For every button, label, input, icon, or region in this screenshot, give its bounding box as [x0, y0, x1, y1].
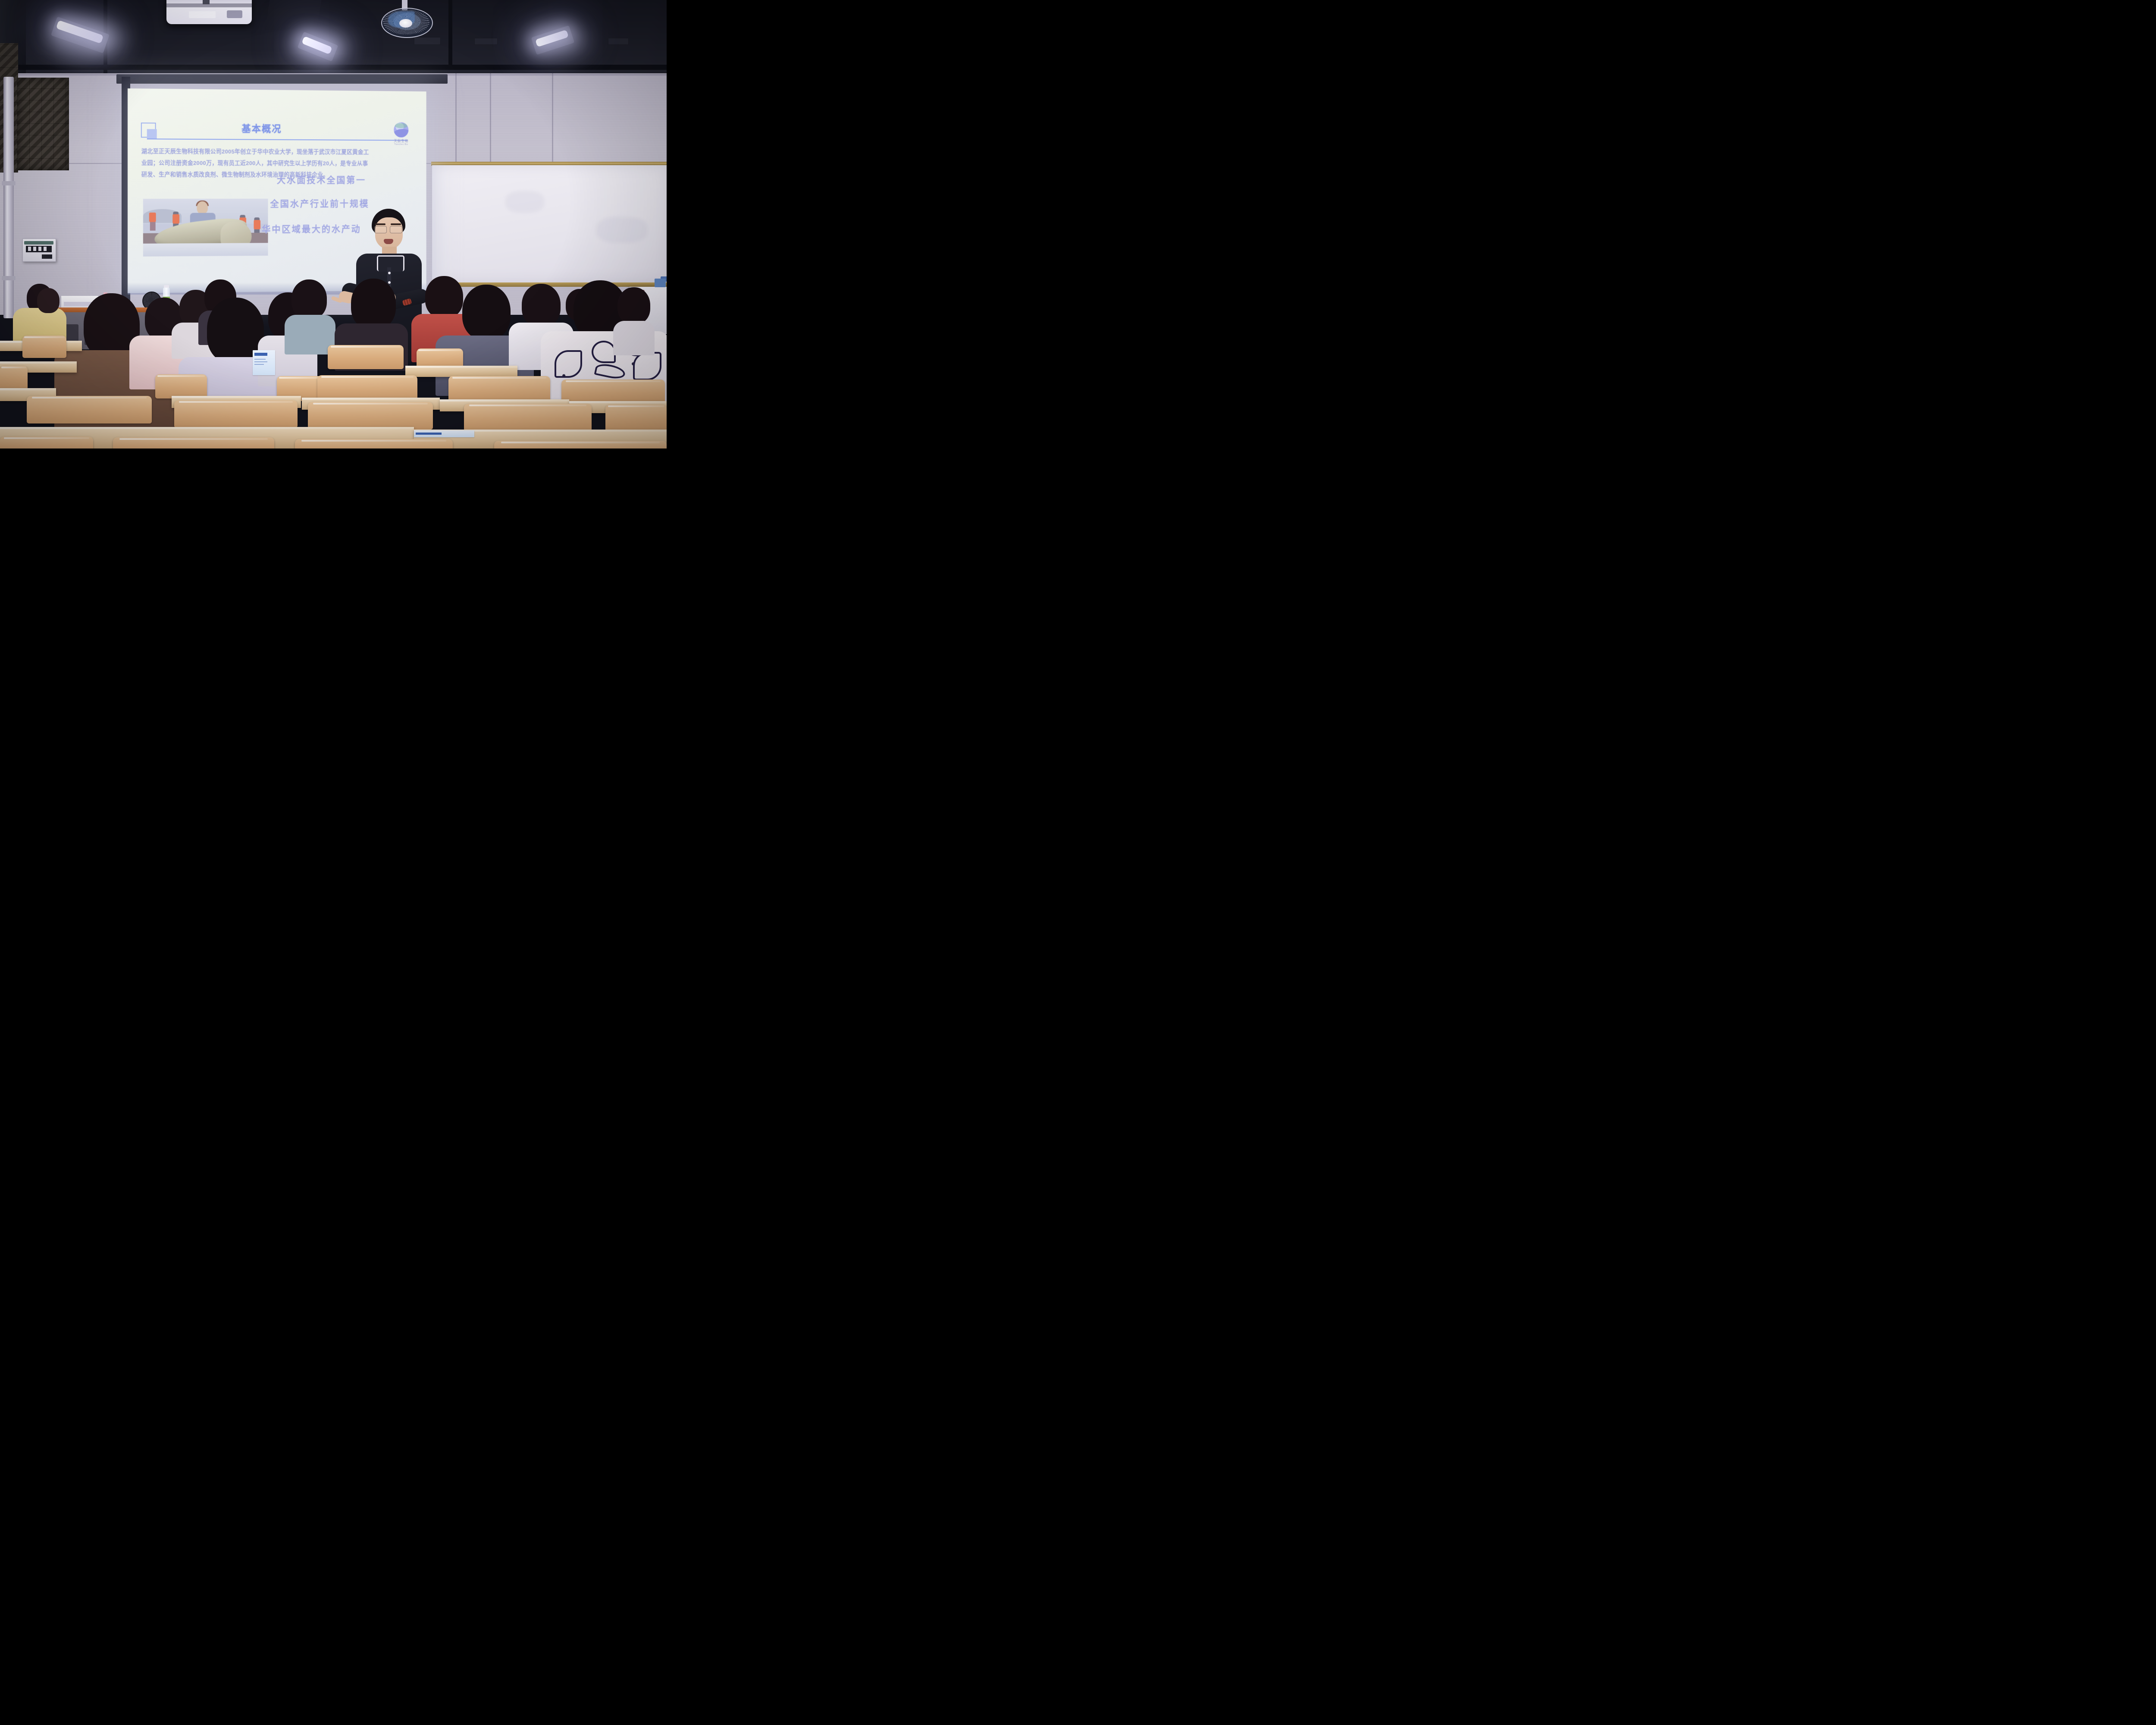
- flyer-2-bar: [416, 433, 442, 435]
- flyer-line-2: [254, 361, 267, 362]
- student-head: [462, 285, 511, 340]
- ceiling-plate-1: [414, 37, 441, 45]
- breaker-switch-3[interactable]: [38, 247, 41, 251]
- floral-motif-1: [555, 350, 582, 378]
- logo-name-cn: 天辰生物: [392, 138, 411, 143]
- ceiling-plate-2: [474, 38, 498, 45]
- breaker-switch-1[interactable]: [28, 247, 31, 251]
- seat-front-5[interactable]: [605, 405, 667, 432]
- slide-title-rule: [147, 138, 408, 141]
- seat-mid-2[interactable]: [155, 374, 207, 398]
- student-body: [613, 321, 655, 355]
- whiteboard-surface[interactable]: [432, 165, 667, 282]
- photo-water: [143, 243, 268, 257]
- whiteboard-smudge-1: [505, 191, 544, 213]
- seat-back-2[interactable]: [328, 345, 404, 369]
- company-logo: 天辰生物 Tianchen Bio: [392, 122, 411, 148]
- whiteboard-smudge-2: [596, 217, 648, 243]
- wall-pipe: [3, 77, 14, 318]
- wall-seam-4: [455, 73, 457, 164]
- student-head: [617, 287, 650, 324]
- logo-name-en: Tianchen Bio: [392, 143, 411, 146]
- photo-lifevest-4: [254, 220, 260, 229]
- breaker-label: [42, 254, 52, 259]
- ceiling-fan: [381, 2, 431, 35]
- seat-front-2[interactable]: [174, 400, 298, 428]
- seat-foreground-1[interactable]: [0, 436, 93, 448]
- slide-decor-square-filled: [147, 129, 157, 138]
- photo-fisherman-head: [197, 201, 208, 214]
- floral-motif-2: [592, 341, 616, 363]
- breaker-switch-2[interactable]: [33, 247, 36, 251]
- wall-seam-3: [552, 73, 553, 164]
- seat-mid-4[interactable]: [317, 375, 417, 401]
- slide-title: 基本概况: [241, 121, 282, 135]
- presenter-face: [375, 217, 403, 249]
- student-far-right: [613, 287, 655, 348]
- handout-flyer-2[interactable]: [414, 430, 474, 437]
- slide-highlight-1: 大水面技术全国第一: [277, 173, 366, 186]
- seat-mid-1[interactable]: [0, 366, 28, 390]
- presenter-lens-right: [390, 226, 402, 233]
- student-head: [351, 279, 396, 329]
- presenter-lens-left: [374, 226, 387, 233]
- presenter-brow-left: [375, 223, 385, 225]
- flyer-header-bar: [254, 353, 267, 356]
- slide-photo-fish: [143, 199, 268, 257]
- handout-flyer[interactable]: [253, 350, 275, 375]
- whiteboard[interactable]: [431, 162, 667, 287]
- photo-lifevest-2: [172, 214, 179, 224]
- presenter-button-1: [388, 272, 391, 274]
- student-teal-top: [285, 279, 335, 353]
- projector-mount: [203, 0, 210, 4]
- seat-mid-5[interactable]: [448, 376, 550, 402]
- flyer-line-3: [254, 364, 264, 365]
- acoustic-foam-panel: [17, 78, 69, 170]
- seat-back-1[interactable]: [22, 336, 66, 358]
- slide-body-line-2: 业园；公司注册资金2000万，现有员工近200人，其中研究生以上学历有20人，是…: [141, 157, 413, 169]
- ceiling-plate-3: [608, 38, 629, 45]
- screen-roller-housing: [116, 74, 448, 84]
- globe-logo-icon: [394, 122, 408, 137]
- classroom-photo-scene: 基本概况 天辰生物 Tianchen Bio 湖北至正天辰生物科技有限公司200…: [0, 0, 667, 448]
- seat-foreground-4[interactable]: [494, 441, 667, 448]
- presenter-brow-right: [391, 223, 401, 225]
- presenter-glasses-icon: [374, 226, 404, 232]
- desk-row-2b: [405, 366, 517, 377]
- presenter-mouth: [384, 239, 393, 244]
- ceiling-beam-3: [448, 0, 452, 69]
- seat-front-1[interactable]: [27, 396, 152, 423]
- seat-front-3[interactable]: [308, 402, 433, 430]
- student-head: [291, 279, 327, 319]
- ceiling-duct: [265, 0, 321, 30]
- projector-lens: [227, 10, 242, 18]
- fan-hub: [399, 19, 412, 28]
- flyer-line-1: [254, 359, 266, 360]
- seat-front-4[interactable]: [464, 404, 592, 431]
- photo-lifevest-1: [149, 213, 156, 222]
- seat-foreground-3[interactable]: [295, 439, 453, 448]
- breaker-cover: [24, 241, 53, 245]
- pipe-ring-2: [2, 276, 16, 280]
- electrical-breaker-box[interactable]: [22, 238, 56, 262]
- pipe-ring-1: [2, 181, 16, 185]
- projector-label: [189, 11, 216, 18]
- slide-body-line-1: 湖北至正天辰生物科技有限公司2005年创立于华中农业大学，现坐落于武汉市江夏区黄…: [141, 145, 413, 158]
- ceiling-beam-1: [0, 65, 667, 70]
- breaker-switch-4[interactable]: [44, 247, 47, 251]
- seat-foreground-2[interactable]: [113, 437, 274, 448]
